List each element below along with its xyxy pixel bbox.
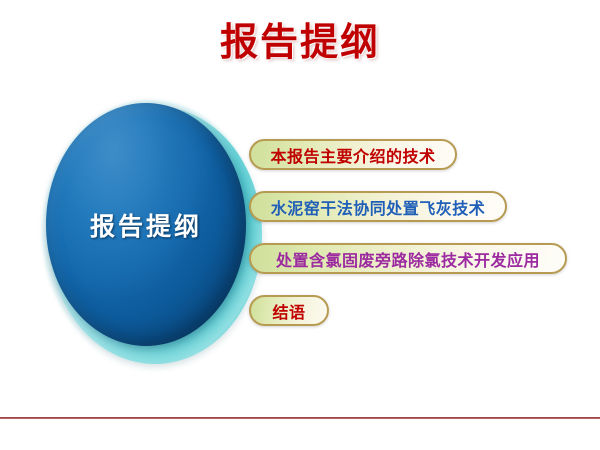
footer-divider [0, 417, 600, 419]
outline-item-4[interactable]: 结语 [249, 295, 329, 326]
slide-canvas: 报告提纲 报告提纲 本报告主要介绍的技术 水泥窑干法协同处置飞灰技术 处置含氯固… [0, 0, 600, 450]
page-title: 报告提纲 [0, 22, 600, 64]
circle-center-label: 报告提纲 [46, 103, 246, 346]
outline-item-2[interactable]: 水泥窑干法协同处置飞灰技术 [249, 191, 507, 222]
outline-circle-graphic: 报告提纲 [40, 98, 265, 370]
outline-item-1[interactable]: 本报告主要介绍的技术 [249, 139, 457, 170]
outline-item-3[interactable]: 处置含氯固废旁路除氯技术开发应用 [249, 243, 567, 274]
